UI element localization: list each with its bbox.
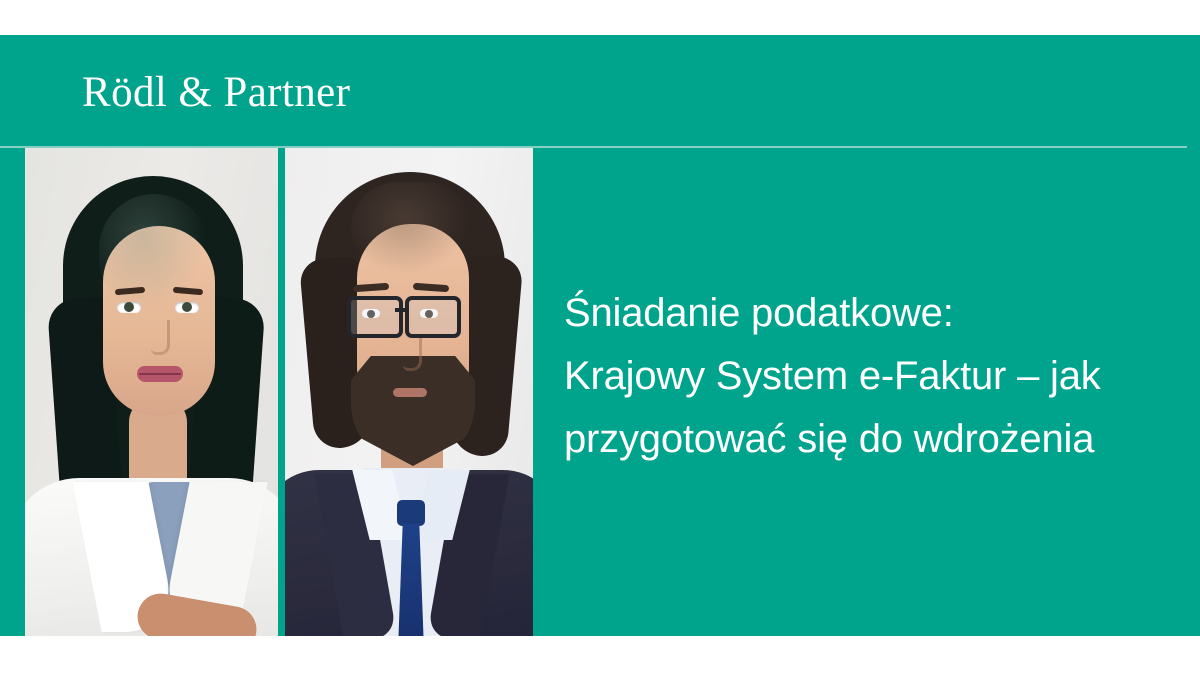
event-title-line-1: Śniadanie podatkowe: [564, 282, 1184, 345]
glasses-lens-right [405, 296, 461, 338]
nose-shape [151, 320, 170, 355]
glasses-bridge [395, 308, 407, 312]
event-title-line-2: Krajowy System e-Faktur – jak [564, 345, 1184, 408]
hair-highlight [351, 182, 471, 274]
glasses-lens-left [347, 296, 403, 338]
event-title: Śniadanie podatkowe: Krajowy System e-Fa… [564, 282, 1184, 471]
nose-shape [403, 334, 422, 371]
hair-highlight [99, 194, 209, 314]
speaker-photo-strip [25, 148, 533, 636]
brand-logo: Rödl & Partner [82, 68, 350, 118]
event-title-line-3: przygotować się do wdrożenia [564, 408, 1184, 471]
promo-banner: Rödl & Partner [0, 0, 1200, 675]
pupil-left [124, 302, 134, 312]
tie-knot [397, 500, 425, 526]
speaker-photo-1 [25, 148, 278, 636]
mouth-shape [393, 388, 427, 397]
lip-line [139, 373, 181, 375]
speaker-photo-2 [285, 148, 533, 636]
pupil-right [182, 302, 192, 312]
